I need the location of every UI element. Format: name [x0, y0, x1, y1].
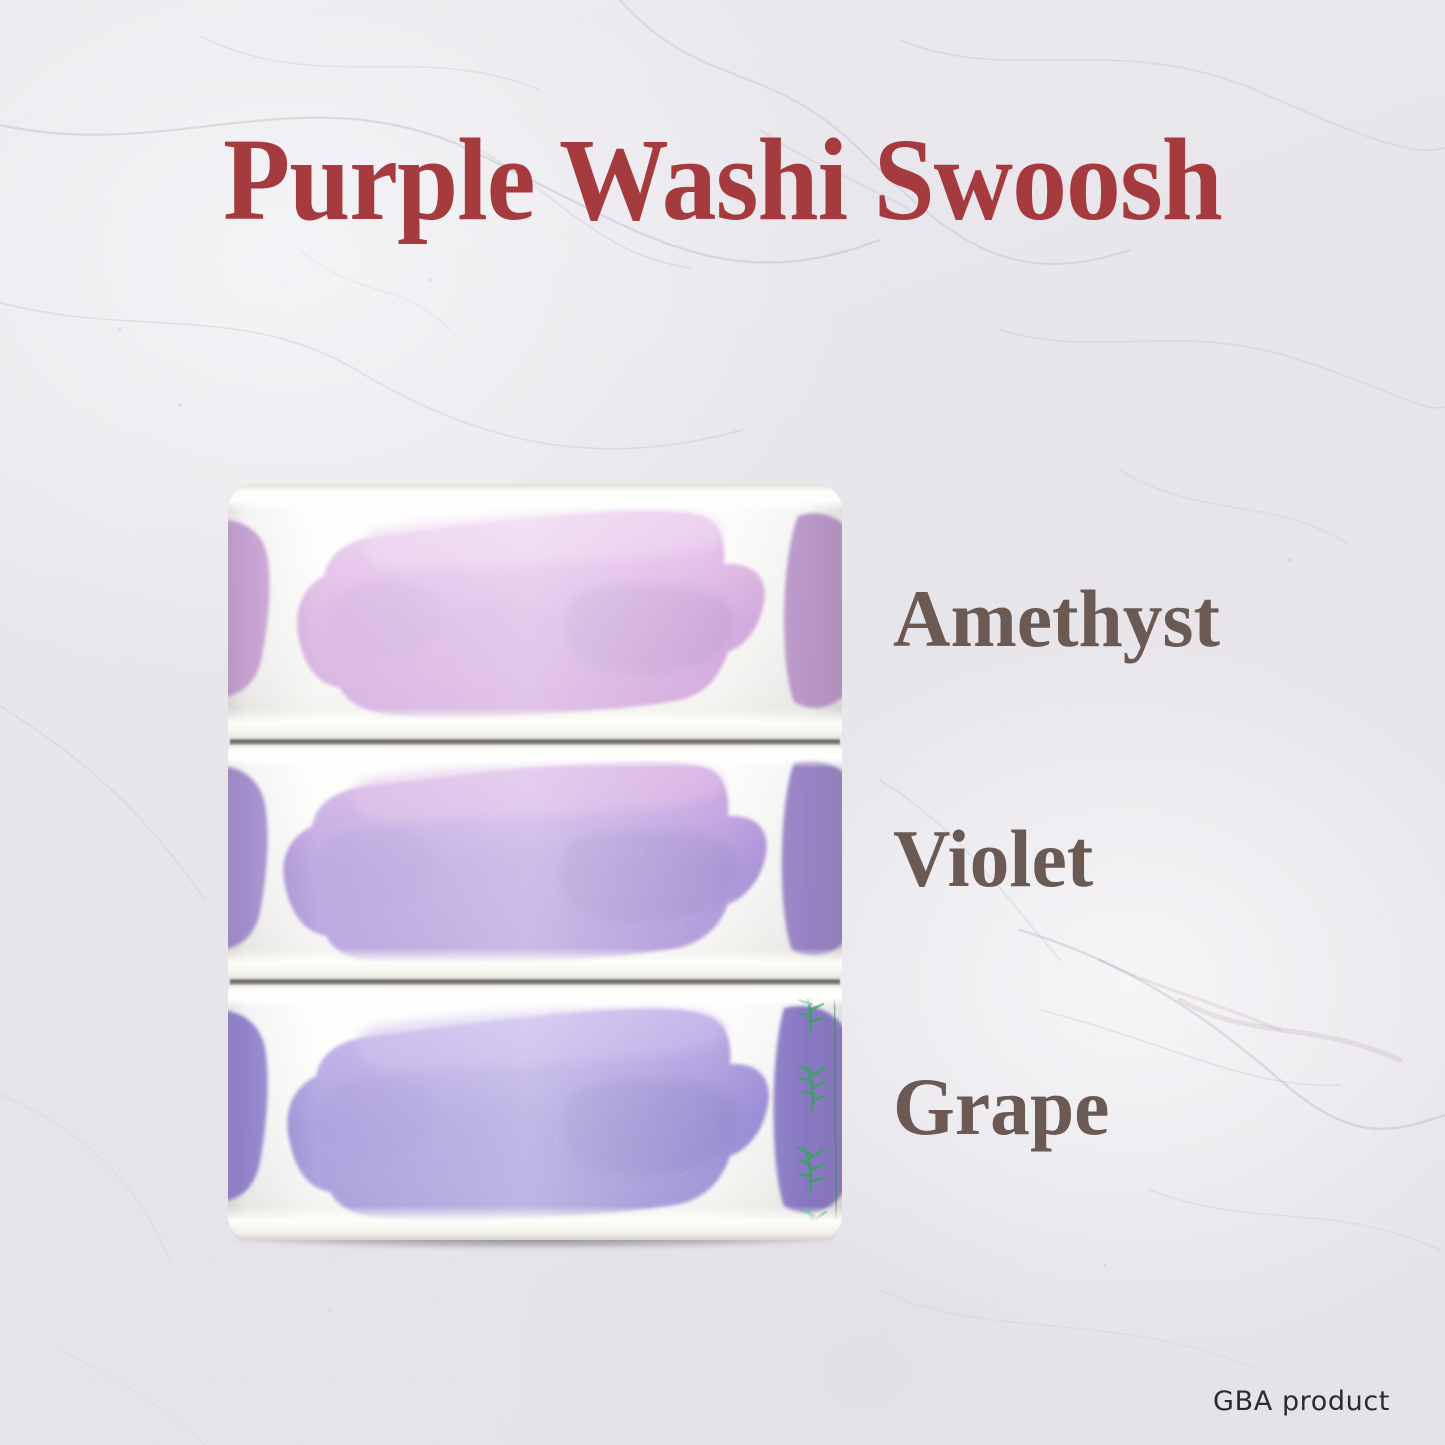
page-title: Purple Washi Swoosh	[51, 120, 1395, 240]
green-fern-accent	[790, 982, 842, 1240]
grape-swoosh-artwork	[228, 982, 842, 1240]
roll-seam-lower	[230, 978, 840, 985]
watermark-text: GBA product	[1213, 1386, 1390, 1417]
violet-swoosh-artwork	[228, 742, 842, 982]
color-label-grape: Grape	[893, 1066, 1109, 1148]
washi-roll-violet[interactable]	[228, 742, 842, 982]
amethyst-swoosh-artwork	[228, 484, 842, 742]
washi-roll-amethyst[interactable]	[228, 484, 842, 742]
color-label-amethyst: Amethyst	[893, 578, 1220, 660]
color-label-violet: Violet	[893, 818, 1093, 900]
washi-roll-grape[interactable]	[228, 982, 842, 1240]
roll-seam-upper	[230, 738, 840, 745]
washi-tape-stack	[228, 484, 842, 1244]
product-image-canvas: Purple Washi Swoosh	[0, 0, 1445, 1445]
